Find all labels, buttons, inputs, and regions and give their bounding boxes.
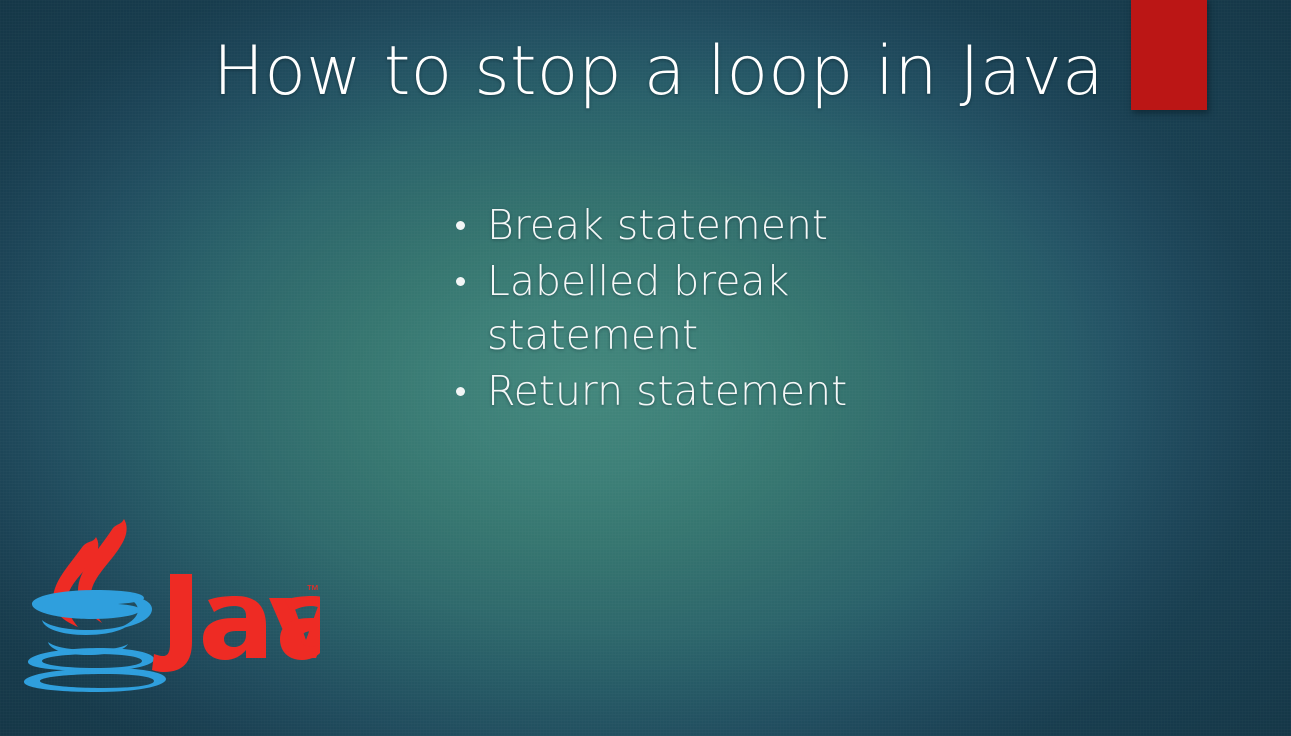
list-item: Break statement (452, 198, 882, 253)
list-item: Return statement (452, 364, 882, 419)
trademark-symbol: ™ (306, 582, 319, 597)
presentation-slide: How to stop a loop in Java Break stateme… (0, 0, 1291, 736)
java-logo: ™ (20, 516, 320, 706)
bullet-dot-icon (456, 277, 465, 286)
java-wordmark (152, 574, 320, 672)
list-item: Labelled break statement (452, 254, 882, 363)
bullet-dot-icon (456, 387, 465, 396)
accent-rectangle (1131, 0, 1207, 110)
bullet-dot-icon (456, 221, 465, 230)
slide-title: How to stop a loop in Java (213, 38, 1073, 106)
bullet-list: Break statement Labelled break statement… (452, 198, 882, 419)
bullet-text: Return statement (487, 367, 847, 415)
bullet-text: Break statement (487, 201, 828, 249)
bullet-text: Labelled break statement (487, 257, 789, 360)
java-cup-icon (24, 590, 166, 692)
